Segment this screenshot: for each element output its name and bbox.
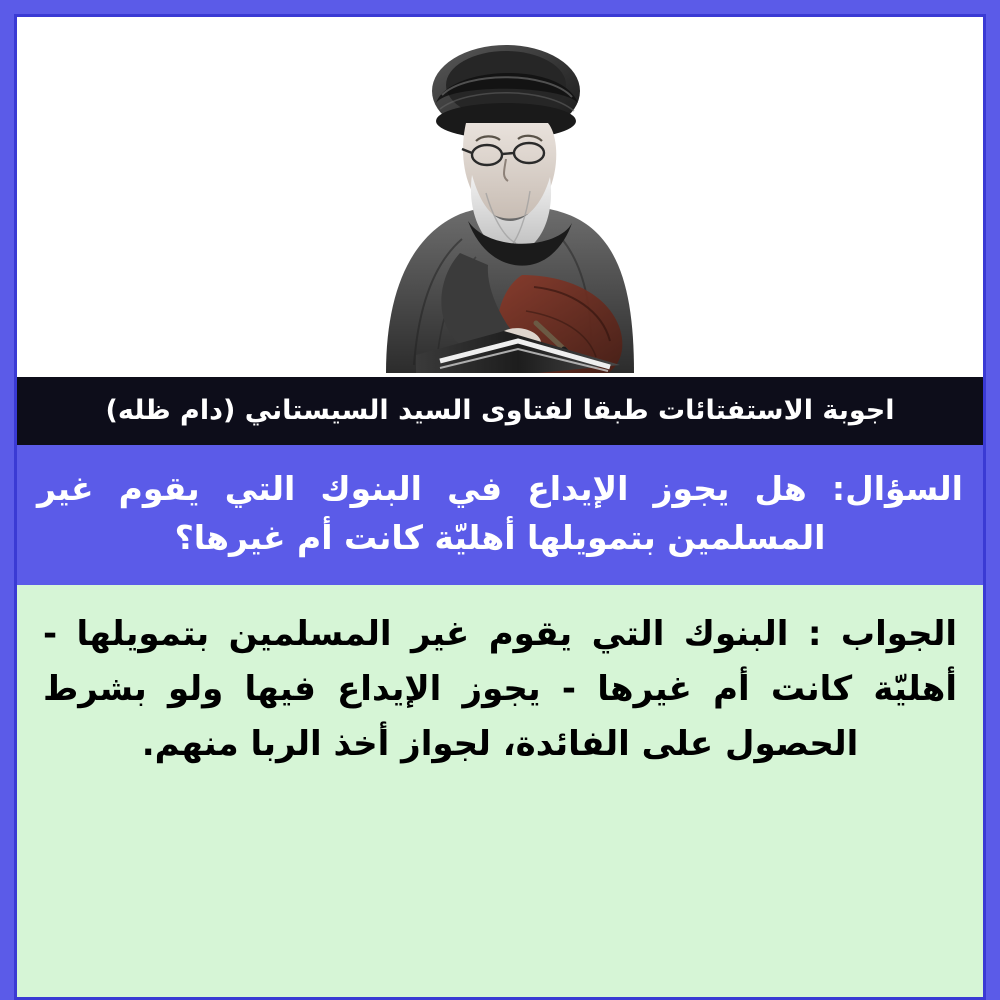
cleric-portrait-illustration [290, 25, 710, 373]
question-text: السؤال: هل يجوز الإيداع في البنوك التي ي… [37, 464, 963, 563]
answer-band: الجواب : البنوك التي يقوم غير المسلمين ب… [17, 585, 983, 997]
title-text: اجوبة الاستفتائات طبقا لفتاوى السيد السي… [105, 395, 894, 426]
answer-text: الجواب : البنوك التي يقوم غير المسلمين ب… [43, 607, 957, 772]
title-band: اجوبة الاستفتائات طبقا لفتاوى السيد السي… [17, 377, 983, 445]
portrait-area [17, 17, 983, 377]
fatwa-card: اجوبة الاستفتائات طبقا لفتاوى السيد السي… [14, 14, 986, 1000]
question-band: السؤال: هل يجوز الإيداع في البنوك التي ي… [17, 445, 983, 585]
